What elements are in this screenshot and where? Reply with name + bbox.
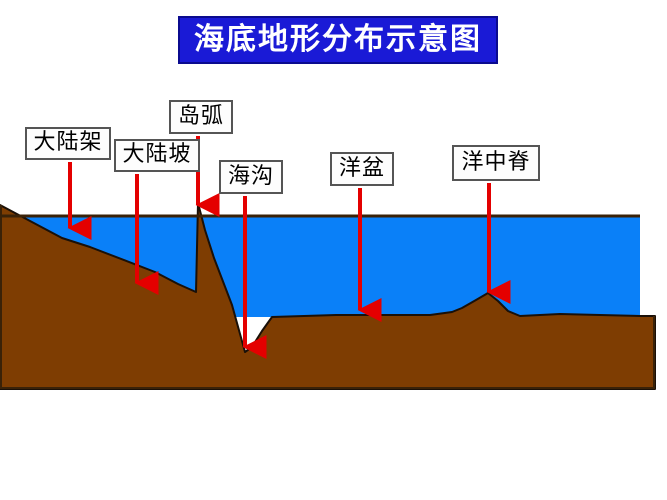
label-box-island-arc: 岛弧	[169, 100, 233, 134]
label-text-ocean-basin: 洋盆	[339, 157, 385, 181]
seafloor-topography-diagram	[0, 0, 667, 500]
label-box-continental-slope: 大陆坡	[114, 139, 200, 172]
label-box-continental-shelf: 大陆架	[25, 127, 111, 160]
label-text-ocean-trench: 海沟	[228, 165, 274, 189]
label-text-continental-shelf: 大陆架	[33, 131, 102, 155]
label-box-mid-ocean-ridge: 洋中脊	[452, 145, 540, 181]
label-text-continental-slope: 大陆坡	[122, 143, 191, 167]
label-text-mid-ocean-ridge: 洋中脊	[461, 151, 530, 175]
label-box-ocean-trench: 海沟	[219, 160, 283, 194]
diagram-page: 海底地形分布示意图 大陆架 大陆坡 岛弧	[0, 0, 667, 500]
label-text-island-arc: 岛弧	[178, 105, 224, 129]
label-box-ocean-basin: 洋盆	[330, 152, 394, 186]
